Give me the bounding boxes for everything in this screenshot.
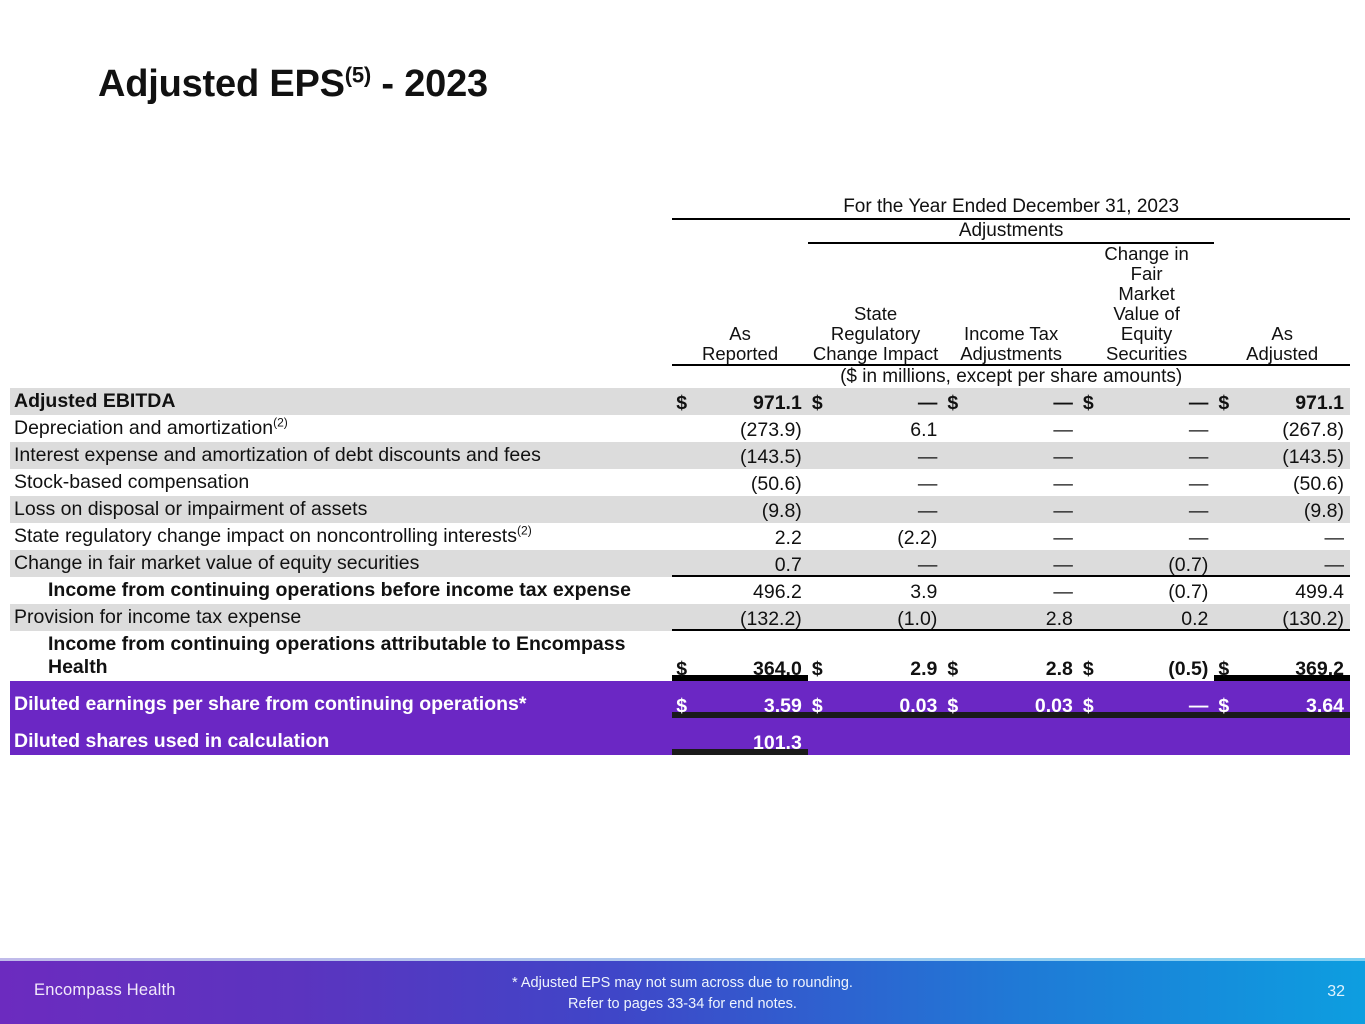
row-as-reported: (143.5) — [695, 442, 808, 469]
row-as-adjusted: 499.4 — [1237, 577, 1350, 604]
col0-line2: Reported — [702, 343, 778, 364]
row-currency — [672, 496, 695, 523]
row-fair-market-value: (0.7) — [1101, 577, 1214, 604]
row-label: Interest expense and amortization of deb… — [10, 442, 672, 469]
row-as-adjusted: — — [1237, 550, 1350, 577]
page-title-year: - 2023 — [371, 63, 488, 105]
period-header-pad — [10, 196, 672, 219]
row-income-tax: 0.03 — [966, 691, 1079, 718]
units-note: ($ in millions, except per share amounts… — [672, 365, 1350, 388]
row-as-adjusted: (9.8) — [1237, 496, 1350, 523]
row-label-footnote-marker: (2) — [273, 415, 288, 429]
page-title: Adjusted EPS(5) - 2023 — [98, 63, 488, 106]
row-currency — [672, 523, 695, 550]
row-state-regulatory: 0.03 — [830, 691, 943, 718]
row-currency — [808, 523, 831, 550]
row-currency: $ — [1214, 631, 1237, 681]
row-currency: $ — [943, 691, 966, 718]
table-row: Adjusted EBITDA $ 971.1 $ — $ — $ — $ 97… — [10, 388, 1350, 415]
units-note-row: ($ in millions, except per share amounts… — [10, 365, 1350, 388]
page-title-main: Adjusted EPS — [98, 63, 345, 105]
row-currency — [672, 604, 695, 631]
row-currency — [1214, 577, 1237, 604]
row-currency — [1079, 442, 1102, 469]
row-label-footnote-marker: (2) — [517, 523, 532, 537]
row-label-text: State regulatory change impact on noncon… — [14, 525, 517, 547]
row-as-reported: 971.1 — [695, 388, 808, 415]
col0-line1: As — [729, 323, 751, 344]
row-currency — [672, 415, 695, 442]
row-currency — [943, 728, 966, 755]
row-currency — [1214, 469, 1237, 496]
row-as-adjusted: 369.2 — [1237, 631, 1350, 681]
table-row: Provision for income tax expense (132.2)… — [10, 604, 1350, 631]
row-currency — [672, 728, 695, 755]
group-header-pad — [10, 219, 672, 243]
column-header-as-adjusted: As Adjusted — [1214, 243, 1350, 365]
row-currency — [943, 469, 966, 496]
row-currency — [808, 577, 831, 604]
row-as-reported: (273.9) — [695, 415, 808, 442]
row-as-adjusted: (50.6) — [1237, 469, 1350, 496]
row-fair-market-value — [1101, 728, 1214, 755]
row-as-reported: 496.2 — [695, 577, 808, 604]
col3-line3: Market — [1118, 283, 1175, 304]
col3-line2: Fair — [1131, 263, 1163, 284]
row-currency: $ — [1214, 691, 1237, 718]
row-state-regulatory: — — [830, 550, 943, 577]
row-state-regulatory: — — [830, 469, 943, 496]
row-fair-market-value: 0.2 — [1101, 604, 1214, 631]
page-title-footnote-marker: (5) — [345, 62, 371, 87]
footnote-line-2: Refer to pages 33-34 for end notes. — [0, 994, 1365, 1015]
row-as-adjusted: 3.64 — [1237, 691, 1350, 718]
group-header-gap-left — [672, 219, 808, 243]
row-income-tax: — — [966, 388, 1079, 415]
row-fair-market-value: — — [1101, 388, 1214, 415]
row-label: Stock-based compensation — [10, 469, 672, 496]
row-currency — [1079, 604, 1102, 631]
row-currency — [943, 577, 966, 604]
footer-accent-line — [0, 958, 1365, 961]
row-currency — [808, 415, 831, 442]
row-label: Income from continuing operations before… — [10, 577, 672, 604]
row-state-regulatory: 3.9 — [830, 577, 943, 604]
row-currency: $ — [1079, 631, 1102, 681]
row-as-reported: 0.7 — [695, 550, 808, 577]
row-currency — [808, 728, 831, 755]
row-label: Depreciation and amortization(2) — [10, 415, 672, 442]
row-state-regulatory: — — [830, 442, 943, 469]
col1-line3: Change Impact — [813, 343, 938, 364]
row-currency: $ — [1214, 388, 1237, 415]
row-currency: $ — [1079, 691, 1102, 718]
row-currency: $ — [672, 388, 695, 415]
group-header-gap-right — [1214, 219, 1350, 243]
row-as-adjusted — [1237, 728, 1350, 755]
row-currency: $ — [672, 631, 695, 681]
period-header-row: For the Year Ended December 31, 2023 — [10, 196, 1350, 219]
row-income-tax: — — [966, 550, 1079, 577]
row-label: State regulatory change impact on noncon… — [10, 523, 672, 550]
row-as-reported: 3.59 — [695, 691, 808, 718]
slide: Adjusted EPS(5) - 2023 For the Year Ende… — [0, 0, 1365, 1024]
row-currency — [1079, 523, 1102, 550]
col3-line4: Value of — [1113, 303, 1180, 324]
row-currency — [943, 604, 966, 631]
row-currency — [1214, 496, 1237, 523]
table-row: Change in fair market value of equity se… — [10, 550, 1350, 577]
footnotes: * Adjusted EPS may not sum across due to… — [0, 973, 1365, 1014]
row-currency — [1079, 415, 1102, 442]
row-currency — [1079, 496, 1102, 523]
row-fair-market-value: (0.7) — [1101, 550, 1214, 577]
row-as-adjusted: (130.2) — [1237, 604, 1350, 631]
row-as-reported: 2.2 — [695, 523, 808, 550]
table-row: Diluted earnings per share from continui… — [10, 691, 1350, 718]
row-currency: $ — [808, 631, 831, 681]
column-header-pad — [10, 243, 672, 365]
table-row: Interest expense and amortization of deb… — [10, 442, 1350, 469]
col2-line1: Income Tax — [964, 323, 1058, 344]
footnote-line-1: * Adjusted EPS may not sum across due to… — [512, 975, 853, 991]
row-currency — [808, 604, 831, 631]
row-label: Income from continuing operations attrib… — [10, 631, 672, 681]
table-row: Stock-based compensation (50.6) — — — (5… — [10, 469, 1350, 496]
row-income-tax: 2.8 — [966, 631, 1079, 681]
row-label: Provision for income tax expense — [10, 604, 672, 631]
row-currency: $ — [672, 691, 695, 718]
row-currency — [808, 496, 831, 523]
units-note-pad — [10, 365, 672, 388]
adjusted-eps-table: For the Year Ended December 31, 2023 Adj… — [10, 196, 1350, 755]
purple-band-spacer-cell — [10, 681, 1350, 691]
col4-line1: As — [1271, 323, 1293, 344]
row-currency — [943, 415, 966, 442]
col1-line2: Regulatory — [831, 323, 920, 344]
row-state-regulatory: (1.0) — [830, 604, 943, 631]
row-state-regulatory: — — [830, 496, 943, 523]
row-currency: $ — [943, 631, 966, 681]
row-currency: $ — [943, 388, 966, 415]
row-currency — [1079, 469, 1102, 496]
row-state-regulatory: (2.2) — [830, 523, 943, 550]
purple-band-spacer-top — [10, 681, 1350, 691]
row-label: Diluted shares used in calculation — [10, 728, 672, 755]
row-income-tax: — — [966, 496, 1079, 523]
row-label: Adjusted EBITDA — [10, 388, 672, 415]
column-header-state-regulatory: State Regulatory Change Impact — [808, 243, 944, 365]
row-income-tax: — — [966, 577, 1079, 604]
col3-line5: Equity — [1121, 323, 1172, 344]
row-currency — [808, 550, 831, 577]
row-currency — [1214, 415, 1237, 442]
row-currency — [1214, 604, 1237, 631]
row-currency — [1079, 577, 1102, 604]
group-header-row: Adjustments — [10, 219, 1350, 243]
column-header-as-reported: As Reported — [672, 243, 808, 365]
row-currency — [672, 442, 695, 469]
row-as-reported: (50.6) — [695, 469, 808, 496]
row-currency — [672, 469, 695, 496]
row-currency — [943, 442, 966, 469]
row-currency: $ — [1079, 388, 1102, 415]
row-currency — [672, 550, 695, 577]
row-as-adjusted: 971.1 — [1237, 388, 1350, 415]
row-label: Change in fair market value of equity se… — [10, 550, 672, 577]
row-as-adjusted: (267.8) — [1237, 415, 1350, 442]
row-currency — [943, 496, 966, 523]
row-as-adjusted: — — [1237, 523, 1350, 550]
row-state-regulatory: 6.1 — [830, 415, 943, 442]
row-income-tax: — — [966, 523, 1079, 550]
purple-band-spacer-mid — [10, 718, 1350, 728]
row-income-tax: — — [966, 469, 1079, 496]
row-currency — [1079, 550, 1102, 577]
row-income-tax — [966, 728, 1079, 755]
row-label-text: Depreciation and amortization — [14, 417, 273, 439]
column-header-fair-market-value: Change in Fair Market Value of Equity Se… — [1079, 243, 1215, 365]
col1-line1: State — [854, 303, 897, 324]
table-row: State regulatory change impact on noncon… — [10, 523, 1350, 550]
row-currency — [808, 469, 831, 496]
row-currency — [1214, 442, 1237, 469]
row-as-reported: 101.3 — [695, 728, 808, 755]
row-currency — [1214, 728, 1237, 755]
row-currency — [943, 523, 966, 550]
row-fair-market-value: (0.5) — [1101, 631, 1214, 681]
purple-band-spacer-cell — [10, 718, 1350, 728]
row-fair-market-value: — — [1101, 691, 1214, 718]
table-row: Depreciation and amortization(2) (273.9)… — [10, 415, 1350, 442]
row-as-adjusted: (143.5) — [1237, 442, 1350, 469]
table-row: Loss on disposal or impairment of assets… — [10, 496, 1350, 523]
row-label: Diluted earnings per share from continui… — [10, 691, 672, 718]
row-currency — [1214, 523, 1237, 550]
period-header: For the Year Ended December 31, 2023 — [672, 196, 1350, 219]
row-fair-market-value: — — [1101, 442, 1214, 469]
table-row: Diluted shares used in calculation 101.3 — [10, 728, 1350, 755]
row-currency: $ — [808, 691, 831, 718]
col3-line6: Securities — [1106, 343, 1187, 364]
row-currency — [672, 577, 695, 604]
col2-line2: Adjustments — [960, 343, 1062, 364]
column-header-income-tax: Income Tax Adjustments — [943, 243, 1079, 365]
row-state-regulatory — [830, 728, 943, 755]
col4-line2: Adjusted — [1246, 343, 1318, 364]
table-row: Income from continuing operations attrib… — [10, 631, 1350, 681]
row-currency — [808, 442, 831, 469]
row-income-tax: — — [966, 415, 1079, 442]
row-fair-market-value: — — [1101, 415, 1214, 442]
row-as-reported: 364.0 — [695, 631, 808, 681]
row-fair-market-value: — — [1101, 523, 1214, 550]
page-number: 32 — [1327, 983, 1345, 1001]
row-state-regulatory: — — [830, 388, 943, 415]
row-label: Loss on disposal or impairment of assets — [10, 496, 672, 523]
slide-footer: Encompass Health * Adjusted EPS may not … — [0, 958, 1365, 1024]
column-header-row: As Reported State Regulatory Change Impa… — [10, 243, 1350, 365]
row-income-tax: — — [966, 442, 1079, 469]
row-fair-market-value: — — [1101, 496, 1214, 523]
row-income-tax: 2.8 — [966, 604, 1079, 631]
row-currency — [1079, 728, 1102, 755]
row-state-regulatory: 2.9 — [830, 631, 943, 681]
row-as-reported: (132.2) — [695, 604, 808, 631]
col3-line1: Change in — [1104, 243, 1188, 264]
row-as-reported: (9.8) — [695, 496, 808, 523]
group-header-adjustments: Adjustments — [808, 219, 1215, 243]
row-currency — [1214, 550, 1237, 577]
table-row: Income from continuing operations before… — [10, 577, 1350, 604]
row-currency — [943, 550, 966, 577]
row-currency: $ — [808, 388, 831, 415]
row-fair-market-value: — — [1101, 469, 1214, 496]
